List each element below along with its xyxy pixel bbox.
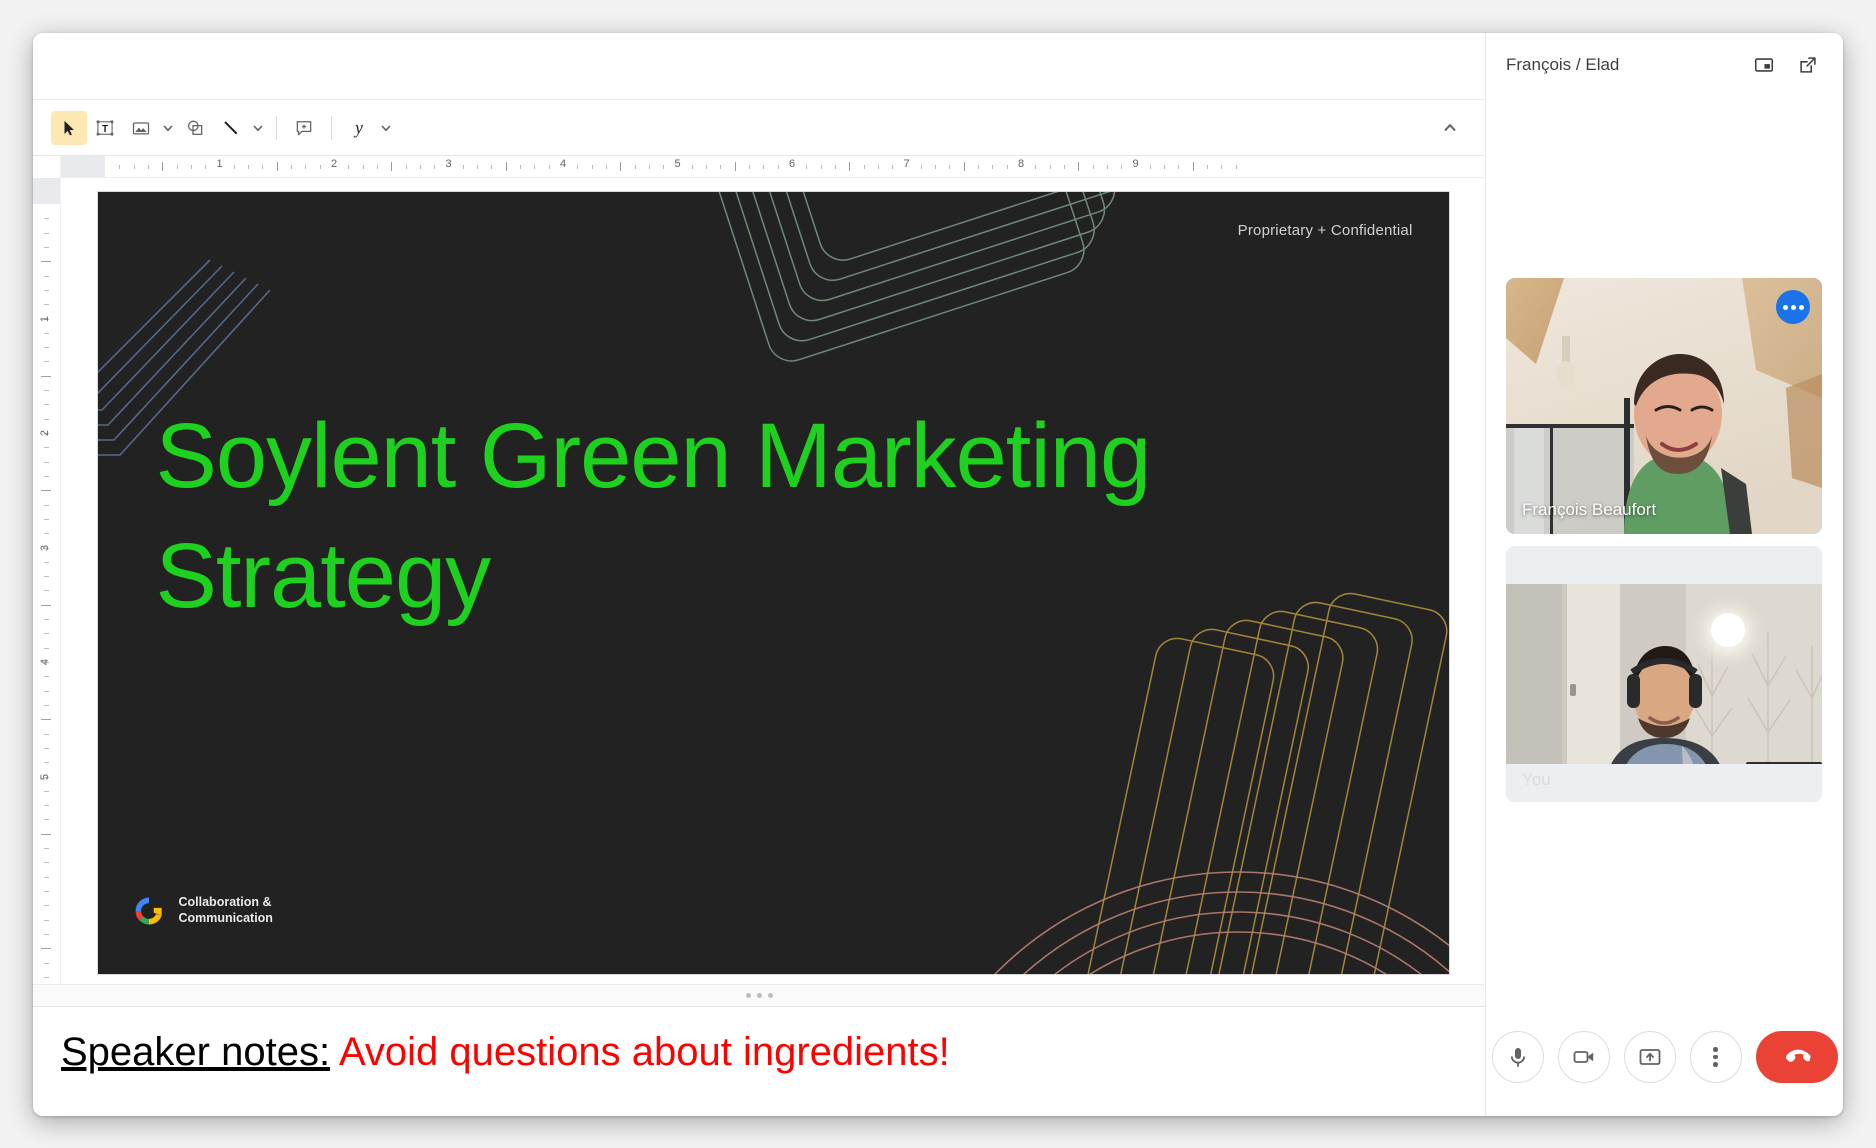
ruler-tick	[44, 619, 49, 620]
ruler-tick	[592, 165, 593, 169]
ruler-tick	[1121, 165, 1122, 169]
ruler-tick	[1093, 165, 1094, 169]
ruler-tick	[119, 165, 120, 169]
ruler-tick	[44, 519, 49, 520]
ruler-number: 1	[216, 158, 222, 170]
notes-splitter-handle[interactable]	[33, 984, 1485, 1006]
ruler-number: 4	[560, 158, 566, 170]
ruler-number: 8	[1018, 158, 1024, 170]
ruler-tick	[41, 376, 51, 377]
ruler-tick	[391, 162, 392, 171]
vertical-ruler[interactable]: 12345	[33, 178, 61, 984]
ruler-tick	[44, 862, 49, 863]
more-dot	[1783, 305, 1788, 310]
ruler-tick	[1236, 165, 1237, 169]
ruler-tick	[44, 476, 49, 477]
ruler-tick	[1107, 165, 1108, 169]
horizontal-ruler[interactable]: 123456789	[61, 156, 1485, 178]
ruler-tick	[44, 633, 49, 634]
ruler-tick	[234, 165, 235, 169]
slides-toolbar: T	[33, 100, 1485, 156]
ruler-tick	[44, 877, 49, 878]
insert-image-tool[interactable]	[123, 111, 159, 145]
splitter-dot	[746, 993, 751, 998]
more-dot	[1791, 305, 1796, 310]
ruler-tick	[649, 165, 650, 169]
ruler-tick	[964, 162, 965, 171]
app-window: T	[33, 33, 1843, 1116]
ruler-tick	[1078, 162, 1079, 171]
ruler-tick	[577, 165, 578, 169]
ruler-tick	[1221, 165, 1222, 169]
camera-button[interactable]	[1558, 1031, 1610, 1083]
kebab-dot	[1713, 1062, 1718, 1067]
ruler-tick	[41, 605, 51, 606]
microphone-button[interactable]	[1492, 1031, 1544, 1083]
participant-name: You	[1522, 770, 1551, 790]
collaboration-c-logo-icon	[130, 892, 168, 930]
meet-side-panel: François / Elad	[1485, 33, 1843, 1116]
ruler-number: 2	[39, 430, 51, 436]
ruler-tick	[41, 261, 51, 262]
ruler-number: 5	[674, 158, 680, 170]
text-box-tool[interactable]: T	[87, 111, 123, 145]
ruler-tick	[44, 734, 49, 735]
canvas-row: 12345	[33, 178, 1485, 984]
meet-control-bar	[1486, 1010, 1843, 1116]
splitter-dot	[768, 993, 773, 998]
ruler-tick	[44, 304, 49, 305]
ruler-corner	[33, 156, 61, 178]
hangup-phone-icon	[1780, 1040, 1814, 1074]
ruler-tick	[1035, 165, 1036, 169]
picture-in-picture-icon	[1753, 54, 1775, 76]
ruler-tick	[935, 165, 936, 169]
ruler-tick	[806, 165, 807, 169]
brand-logo: Collaboration &Communication	[130, 892, 273, 930]
editor-top-strip	[33, 33, 1485, 100]
ruler-tick	[44, 247, 49, 248]
kebab-dot	[1713, 1055, 1718, 1060]
ruler-tick	[692, 165, 693, 169]
external-link-icon	[1797, 54, 1819, 76]
speaker-notes-line: Speaker notes: Avoid questions about ing…	[61, 1029, 1457, 1075]
ruler-tick	[44, 462, 49, 463]
ruler-tick	[849, 162, 850, 171]
ruler-tick	[44, 934, 49, 935]
video-letterbox-top	[1506, 546, 1822, 584]
pen-tool[interactable]: y	[341, 111, 377, 145]
ruler-tick	[892, 165, 893, 169]
slide-title[interactable]: Soylent Green Marketing Strategy	[156, 397, 1206, 636]
ruler-tick	[44, 447, 49, 448]
ruler-number: 2	[331, 158, 337, 170]
participant-tiles: François Beaufort	[1486, 97, 1843, 1010]
ruler-tick	[277, 162, 278, 171]
select-tool[interactable]	[51, 111, 87, 145]
ruler-tick	[44, 905, 49, 906]
ruler-tick	[1178, 165, 1179, 169]
ruler-tick	[749, 165, 750, 169]
ruler-tick	[491, 165, 492, 169]
comment-tool[interactable]	[286, 111, 322, 145]
participant-name: François Beaufort	[1522, 500, 1656, 520]
ruler-tick	[1150, 165, 1151, 169]
ruler-tick	[248, 165, 249, 169]
present-button[interactable]	[1624, 1031, 1676, 1083]
ruler-tick	[191, 165, 192, 169]
speaker-notes-text[interactable]: Avoid questions about ingredients!	[339, 1030, 950, 1074]
ruler-tick	[44, 705, 49, 706]
ruler-tick	[821, 165, 822, 169]
ruler-tick	[44, 748, 49, 749]
ruler-tick	[864, 165, 865, 169]
slides-editor: T	[33, 33, 1485, 1116]
ruler-tick	[878, 165, 879, 169]
ruler-tick	[1007, 165, 1008, 169]
ruler-tick	[44, 419, 49, 420]
ruler-tick	[44, 963, 49, 964]
ruler-tick	[148, 165, 149, 169]
ruler-number: 9	[1132, 158, 1138, 170]
ruler-tick	[44, 276, 49, 277]
ruler-number: 3	[39, 544, 51, 550]
ruler-tick	[177, 165, 178, 169]
ruler-tick	[406, 165, 407, 169]
ruler-tick	[1050, 165, 1051, 169]
ruler-tick	[992, 165, 993, 169]
video-feed-francois	[1506, 278, 1822, 534]
speaker-notes-label: Speaker notes:	[61, 1030, 330, 1074]
ruler-tick	[44, 819, 49, 820]
ruler-tick	[949, 165, 950, 169]
toolbar-divider-2	[331, 116, 332, 140]
insert-image-chevron-down-icon[interactable]	[159, 111, 177, 145]
ruler-tick	[44, 791, 49, 792]
open-in-new-window-button[interactable]	[1791, 48, 1825, 82]
ruler-tick	[134, 165, 135, 169]
ruler-tick	[549, 165, 550, 169]
ruler-tick	[363, 165, 364, 169]
line-chevron-down-icon[interactable]	[249, 111, 267, 145]
ruler-tick	[44, 848, 49, 849]
toolbar-divider	[276, 116, 277, 140]
ruler-tick	[835, 165, 836, 169]
microphone-icon	[1506, 1045, 1530, 1069]
ruler-tick	[477, 165, 478, 169]
meet-header: François / Elad	[1486, 33, 1843, 97]
ruler-tick	[44, 218, 49, 219]
ruler-tick	[434, 165, 435, 169]
ruler-tick	[44, 333, 49, 334]
ruler-tick	[978, 165, 979, 169]
ruler-tick	[463, 165, 464, 169]
ruler-tick	[44, 233, 49, 234]
ruler-tick	[377, 165, 378, 169]
ruler-number: 3	[445, 158, 451, 170]
ruler-margin-top	[33, 178, 60, 204]
ruler-tick	[506, 162, 507, 171]
participant-tile-francois[interactable]: François Beaufort	[1506, 278, 1822, 534]
ruler-number: 6	[789, 158, 795, 170]
ruler-tick	[420, 165, 421, 169]
ruler-tick	[778, 165, 779, 169]
video-camera-icon	[1572, 1045, 1596, 1069]
slide-surface[interactable]: Proprietary + Confidential Soylent Green…	[98, 192, 1449, 974]
ruler-tick	[763, 165, 764, 169]
line-tool[interactable]	[213, 111, 249, 145]
ruler-tick	[1164, 165, 1165, 169]
ruler-tick	[921, 165, 922, 169]
hangup-button[interactable]	[1756, 1031, 1838, 1083]
ruler-tick	[44, 805, 49, 806]
ruler-tick	[1064, 165, 1065, 169]
splitter-dot	[757, 993, 762, 998]
ruler-tick	[44, 347, 49, 348]
ruler-tick	[44, 590, 49, 591]
ruler-tick	[44, 891, 49, 892]
ruler-tick	[44, 691, 49, 692]
video-letterbox-bottom	[1506, 764, 1822, 802]
speaker-notes-pane[interactable]: Speaker notes: Avoid questions about ing…	[33, 1006, 1485, 1116]
logo-line-1: Collaboration &	[179, 895, 272, 909]
ruler-tick	[291, 165, 292, 169]
ruler-tick	[44, 762, 49, 763]
ruler-tick	[41, 490, 51, 491]
ruler-tick	[520, 165, 521, 169]
ruler-tick	[44, 977, 49, 978]
ruler-tick	[720, 165, 721, 169]
ruler-tick	[534, 165, 535, 169]
ruler-tick	[205, 165, 206, 169]
ruler-tick	[635, 165, 636, 169]
svg-text:T: T	[102, 124, 108, 135]
ruler-number: 5	[39, 773, 51, 779]
meet-call-title: François / Elad	[1506, 55, 1737, 75]
ruler-tick	[44, 361, 49, 362]
slide-canvas-area[interactable]: Proprietary + Confidential Soylent Green…	[61, 178, 1485, 984]
ruler-tick	[41, 719, 51, 720]
ruler-tick	[348, 165, 349, 169]
ruler-tick	[44, 533, 49, 534]
ruler-tick	[706, 165, 707, 169]
tile-more-options-button[interactable]	[1776, 290, 1810, 324]
kebab-dot	[1713, 1047, 1718, 1052]
ruler-tick	[735, 162, 736, 171]
picture-in-picture-button[interactable]	[1747, 48, 1781, 82]
ruler-margin-left	[61, 156, 105, 177]
ruler-number: 4	[39, 659, 51, 665]
ruler-tick	[320, 165, 321, 169]
ruler-tick	[44, 505, 49, 506]
ruler-tick	[41, 834, 51, 835]
ruler-number: 7	[903, 158, 909, 170]
collapse-toolbar-button[interactable]	[1433, 111, 1467, 145]
ruler-row: 123456789	[33, 156, 1485, 178]
shape-tool[interactable]	[177, 111, 213, 145]
ruler-tick	[44, 390, 49, 391]
ruler-tick	[262, 165, 263, 169]
ruler-tick	[1193, 162, 1194, 171]
confidential-marking: Proprietary + Confidential	[1238, 222, 1413, 239]
ruler-tick	[44, 676, 49, 677]
ruler-number: 1	[39, 315, 51, 321]
ruler-tick	[606, 165, 607, 169]
more-options-button[interactable]	[1690, 1031, 1742, 1083]
ruler-tick	[44, 290, 49, 291]
ruler-tick	[1207, 165, 1208, 169]
ruler-tick	[305, 165, 306, 169]
ruler-tick	[162, 162, 163, 171]
more-dot	[1799, 305, 1804, 310]
svg-text:y: y	[353, 117, 363, 137]
logo-line-2: Communication	[179, 911, 273, 925]
logo-text: Collaboration &Communication	[179, 895, 273, 926]
ruler-tick	[620, 162, 621, 171]
ruler-tick	[44, 404, 49, 405]
pen-chevron-down-icon[interactable]	[377, 111, 395, 145]
ruler-tick	[44, 920, 49, 921]
ruler-tick	[41, 948, 51, 949]
ruler-tick	[44, 562, 49, 563]
ruler-tick	[44, 576, 49, 577]
ruler-tick	[44, 648, 49, 649]
participant-tile-you[interactable]: You	[1506, 546, 1822, 802]
ruler-tick	[663, 165, 664, 169]
present-screen-icon	[1638, 1045, 1662, 1069]
